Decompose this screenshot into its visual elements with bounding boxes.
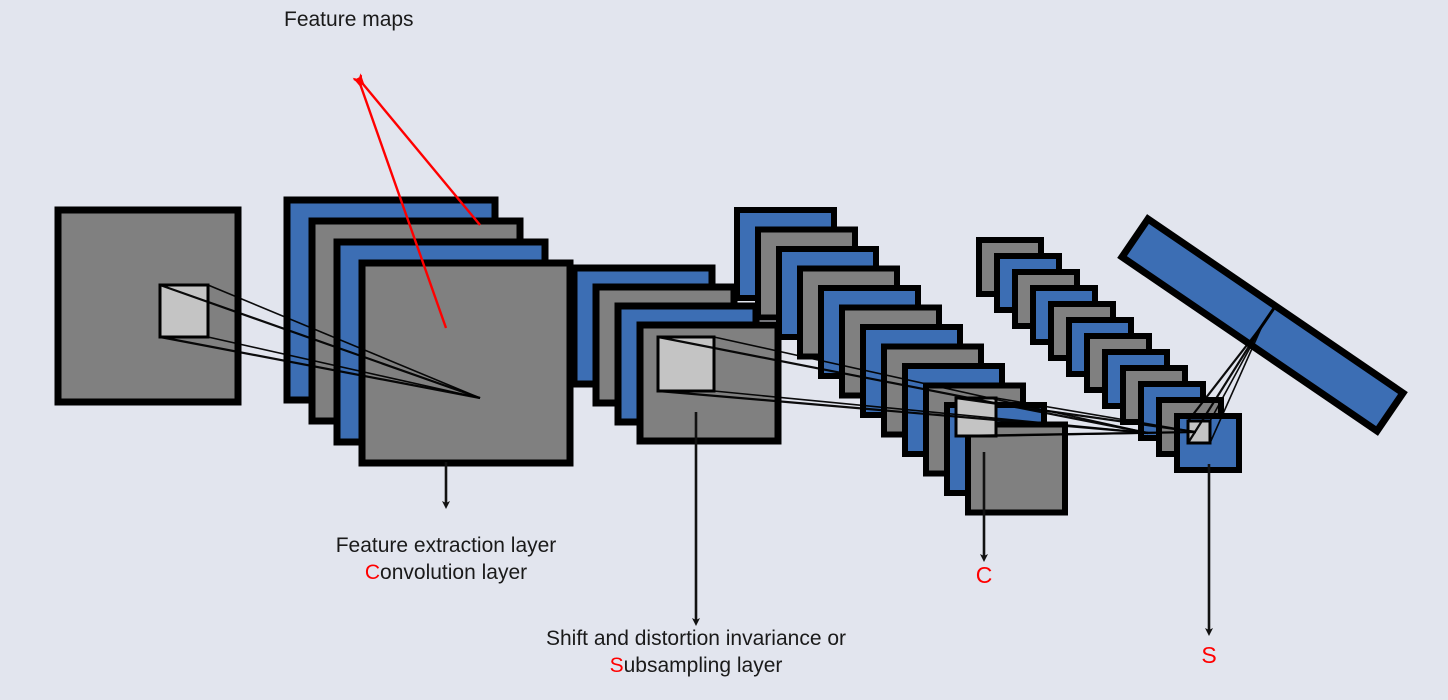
diagram-canvas [0,0,1448,700]
connector-line-1 [1188,325,1263,421]
label-conv-rest: onvolution layer [380,561,527,584]
label-conv-line1: Feature extraction layer [336,532,557,559]
input-plane [58,210,238,402]
label-conv-accent-letter: C [365,561,380,584]
label-sub-rest: ubsampling layer [624,654,783,677]
label-convolution-layer: Feature extraction layer Convolution lay… [336,532,557,586]
plane-12-gray [968,425,1065,513]
conv-layer-c1 [287,200,570,463]
receptive-field-patch [658,337,714,391]
label-subsampling-layer: Shift and distortion invariance or Subsa… [546,625,846,679]
label-sub-line1: Shift and distortion invariance or [546,625,846,652]
label-feature-maps: Feature maps [284,6,414,33]
input-image [58,210,238,402]
label-conv-line2: Convolution layer [336,559,557,586]
label-sub-accent-letter: S [610,654,624,677]
label-c: C [976,562,993,589]
plane-4-gray [362,263,570,463]
connector-line-3 [1210,325,1263,421]
label-s: S [1201,642,1216,669]
cnn-architecture-diagram: Feature maps Feature extraction layer Co… [0,0,1448,700]
label-sub-line2: Subsampling layer [546,652,846,679]
